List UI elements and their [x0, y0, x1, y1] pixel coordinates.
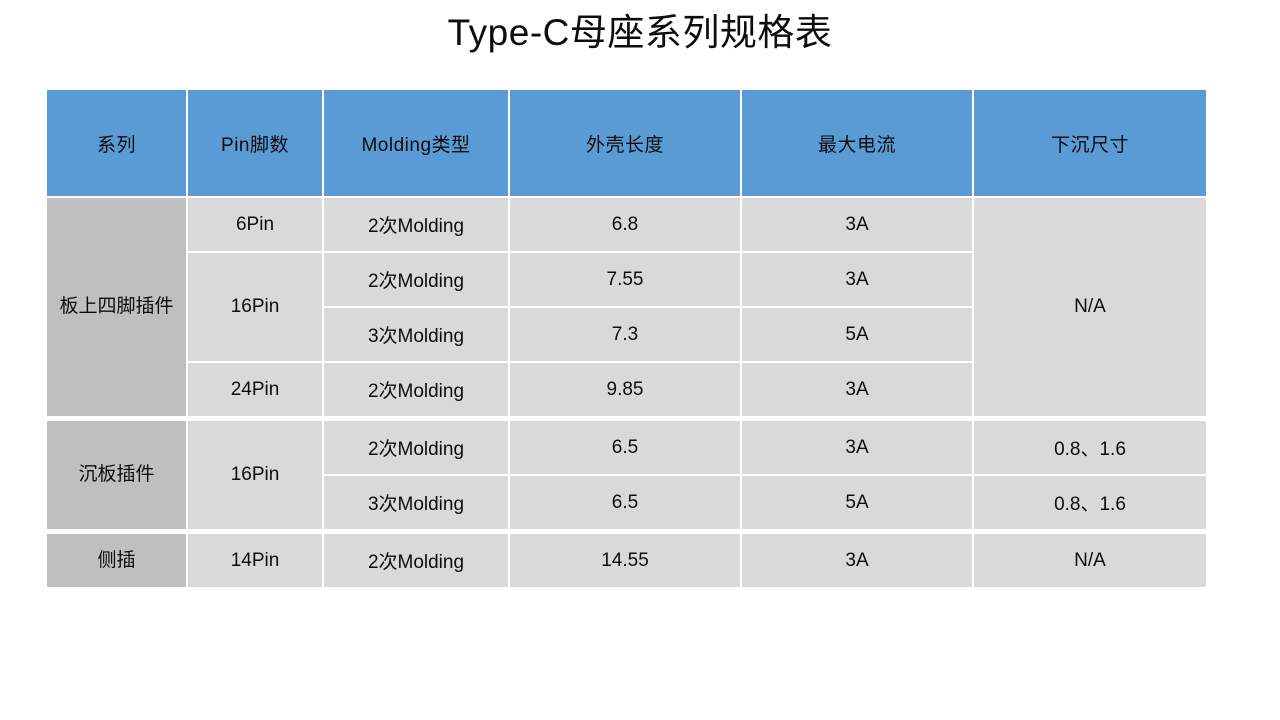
- table-row: 板上四脚插件6Pin2次Molding6.83AN/A: [47, 198, 1206, 251]
- cell-length: 14.55: [510, 531, 740, 587]
- spec-table-container: 系列 Pin脚数 Molding类型 外壳长度 最大电流 下沉尺寸 板上四脚插件…: [45, 88, 1206, 589]
- page-title: Type-C母座系列规格表: [0, 8, 1280, 58]
- cell-sink: 0.8、1.6: [974, 476, 1206, 529]
- header-row: 系列 Pin脚数 Molding类型 外壳长度 最大电流 下沉尺寸: [47, 90, 1206, 196]
- cell-series: 侧插: [47, 531, 186, 587]
- cell-current: 3A: [742, 253, 972, 306]
- cell-current: 5A: [742, 308, 972, 361]
- column-header-sink: 下沉尺寸: [974, 90, 1206, 196]
- cell-pin: 6Pin: [188, 198, 322, 251]
- table-row: 侧插14Pin2次Molding14.553AN/A: [47, 531, 1206, 587]
- cell-sink: 0.8、1.6: [974, 418, 1206, 474]
- cell-current: 3A: [742, 198, 972, 251]
- cell-sink: N/A: [974, 198, 1206, 416]
- cell-current: 3A: [742, 531, 972, 587]
- column-header-pin: Pin脚数: [188, 90, 322, 196]
- cell-molding: 2次Molding: [324, 363, 508, 416]
- column-header-series: 系列: [47, 90, 186, 196]
- cell-length: 7.55: [510, 253, 740, 306]
- cell-series: 沉板插件: [47, 418, 186, 529]
- cell-molding: 2次Molding: [324, 418, 508, 474]
- cell-length: 7.3: [510, 308, 740, 361]
- cell-pin: 14Pin: [188, 531, 322, 587]
- column-header-length: 外壳长度: [510, 90, 740, 196]
- cell-current: 3A: [742, 418, 972, 474]
- cell-series: 板上四脚插件: [47, 198, 186, 416]
- cell-pin: 16Pin: [188, 253, 322, 361]
- cell-molding: 3次Molding: [324, 476, 508, 529]
- column-header-molding: Molding类型: [324, 90, 508, 196]
- cell-sink: N/A: [974, 531, 1206, 587]
- cell-length: 9.85: [510, 363, 740, 416]
- slide: Type-C母座系列规格表 系列 Pin脚数 Molding类型 外壳长度 最大…: [0, 0, 1280, 720]
- table-body: 板上四脚插件6Pin2次Molding6.83AN/A16Pin2次Moldin…: [47, 198, 1206, 587]
- cell-molding: 2次Molding: [324, 253, 508, 306]
- cell-length: 6.5: [510, 476, 740, 529]
- cell-molding: 2次Molding: [324, 531, 508, 587]
- cell-molding: 3次Molding: [324, 308, 508, 361]
- cell-length: 6.8: [510, 198, 740, 251]
- cell-pin: 24Pin: [188, 363, 322, 416]
- cell-pin: 16Pin: [188, 418, 322, 529]
- cell-current: 3A: [742, 363, 972, 416]
- spec-table: 系列 Pin脚数 Molding类型 外壳长度 最大电流 下沉尺寸 板上四脚插件…: [45, 88, 1208, 589]
- table-row: 沉板插件16Pin2次Molding6.53A0.8、1.6: [47, 418, 1206, 474]
- table-header: 系列 Pin脚数 Molding类型 外壳长度 最大电流 下沉尺寸: [47, 90, 1206, 196]
- cell-molding: 2次Molding: [324, 198, 508, 251]
- column-header-current: 最大电流: [742, 90, 972, 196]
- cell-current: 5A: [742, 476, 972, 529]
- cell-length: 6.5: [510, 418, 740, 474]
